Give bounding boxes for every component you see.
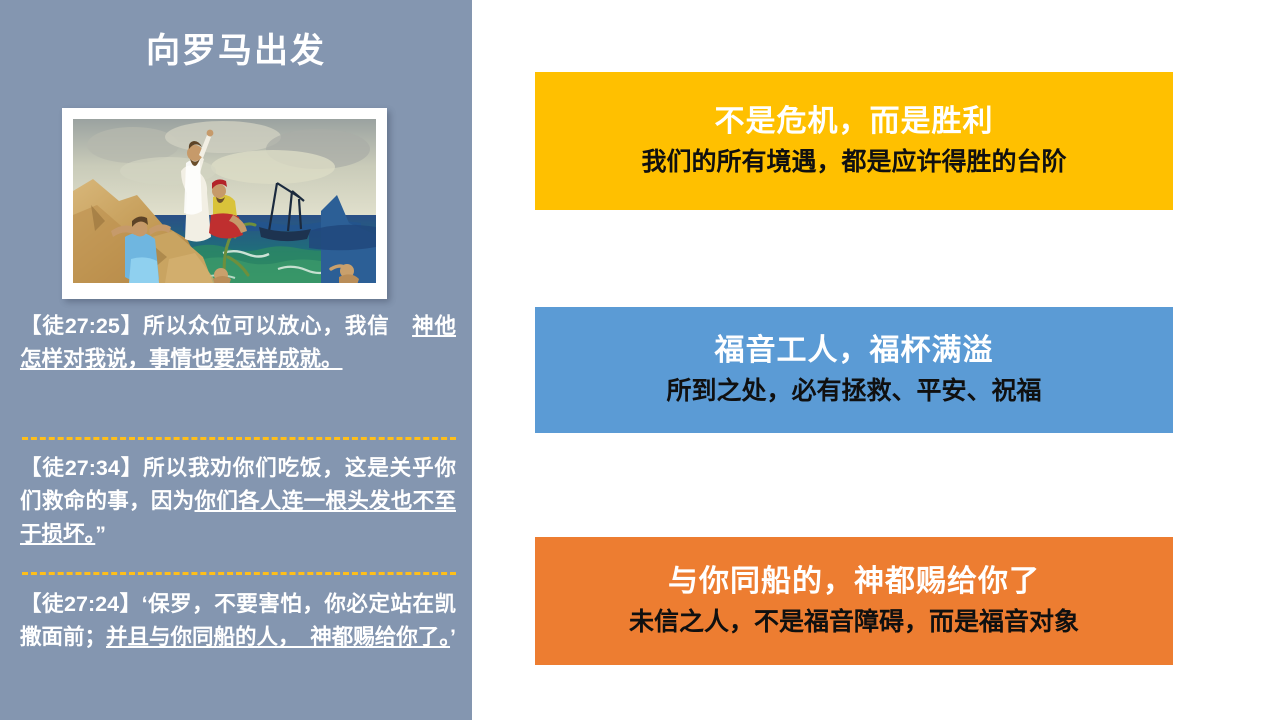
- message-1-heading: 不是危机，而是胜利: [715, 101, 994, 143]
- message-2-heading: 福音工人，福杯满溢: [715, 330, 994, 372]
- verse-1-plain-before: 所以众位可以放心，我信: [143, 314, 412, 338]
- paul-shipwreck-malta-illustration: [73, 119, 376, 283]
- verse-block-2: 【徒27:34】所以我劝你们吃饭，这是关乎你们救命的事，因为你们各人连一根头发也…: [20, 452, 456, 551]
- message-box-gospel-worker-overflowing-cup: 福音工人，福杯满溢 所到之处，必有拯救、平安、祝福: [535, 307, 1173, 433]
- message-2-subheading: 所到之处，必有拯救、平安、祝福: [666, 372, 1041, 410]
- message-1-subheading: 我们的所有境遇，都是应许得胜的台阶: [641, 143, 1066, 181]
- sidebar-panel: 向罗马出发: [0, 0, 472, 720]
- verse-divider-2: [22, 572, 456, 575]
- message-box-not-crisis-but-victory: 不是危机，而是胜利 我们的所有境遇，都是应许得胜的台阶: [535, 72, 1173, 210]
- page-title: 向罗马出发: [0, 28, 472, 74]
- verse-3-plain-after: ’: [450, 625, 456, 649]
- verse-block-1: 【徒27:25】所以众位可以放心，我信 神他怎样对我说，事情也要怎样成就。: [20, 310, 456, 376]
- verse-3-underlined: 并且与你同船的人， 神都赐给你了。: [106, 625, 450, 649]
- message-box-god-gave-you-shipmates: 与你同船的，神都赐给你了 未信之人，不是福音障碍，而是福音对象: [535, 537, 1173, 665]
- verse-1-reference: 【徒27:25】: [20, 314, 143, 338]
- verse-2-reference: 【徒27:34】: [20, 456, 143, 480]
- verse-3-reference: 【徒27:24】: [20, 592, 142, 616]
- verse-2-plain-after: ”: [95, 522, 106, 546]
- verse-block-3: 【徒27:24】‘保罗，不要害怕，你必定站在凯撒面前；并且与你同船的人， 神都赐…: [20, 588, 456, 654]
- picture-frame: [62, 108, 387, 299]
- message-3-subheading: 未信之人，不是福音障碍，而是福音对象: [629, 603, 1079, 641]
- message-3-heading: 与你同船的，神都赐给你了: [668, 561, 1040, 603]
- verse-divider-1: [22, 437, 456, 440]
